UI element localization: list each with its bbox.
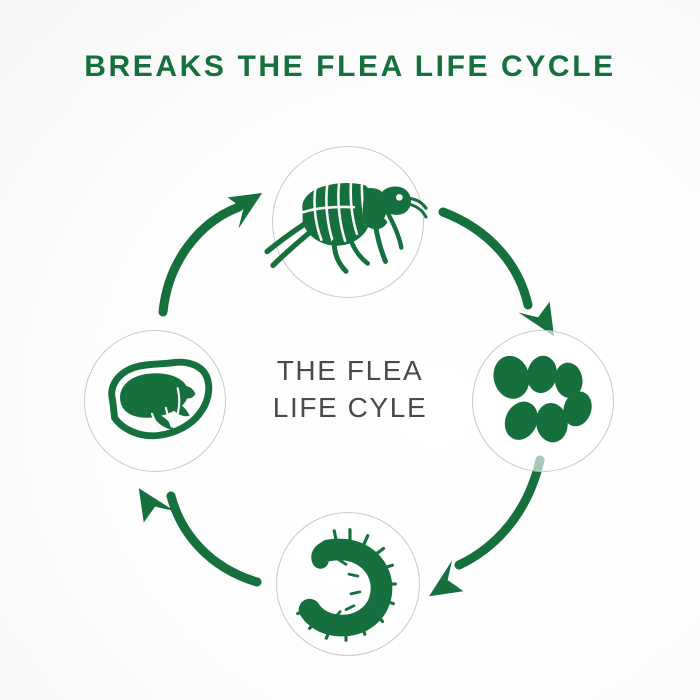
stage-circle-flea-larva[interactable] bbox=[276, 512, 420, 656]
arrow-adult-to-eggs bbox=[443, 212, 561, 345]
stage-circle-flea-eggs[interactable] bbox=[472, 330, 614, 472]
pupa-body bbox=[120, 373, 195, 429]
stage-circle-flea-pupa[interactable] bbox=[84, 330, 226, 472]
stage-circle-adult-flea[interactable] bbox=[272, 146, 424, 298]
center-label-line-2: LIFE CYLE bbox=[250, 389, 450, 426]
flea-life-cycle-infographic: BREAKS THE FLEA LIFE CYCLE THE FLEA LIFE… bbox=[0, 0, 700, 700]
flea-larva-icon bbox=[277, 513, 419, 655]
arrow-pupa-to-adult bbox=[163, 186, 271, 312]
arrow-eggs-to-larva bbox=[420, 460, 540, 603]
page-title: BREAKS THE FLEA LIFE CYCLE bbox=[0, 52, 700, 82]
arrow-larva-to-pupa bbox=[132, 479, 257, 582]
adult-flea-icon bbox=[273, 147, 423, 297]
center-label-line-1: THE FLEA bbox=[250, 352, 450, 389]
flea-eggs-icon bbox=[473, 331, 613, 471]
center-label: THE FLEA LIFE CYLE bbox=[250, 352, 450, 426]
flea-pupa-cocoon-icon bbox=[85, 331, 225, 471]
